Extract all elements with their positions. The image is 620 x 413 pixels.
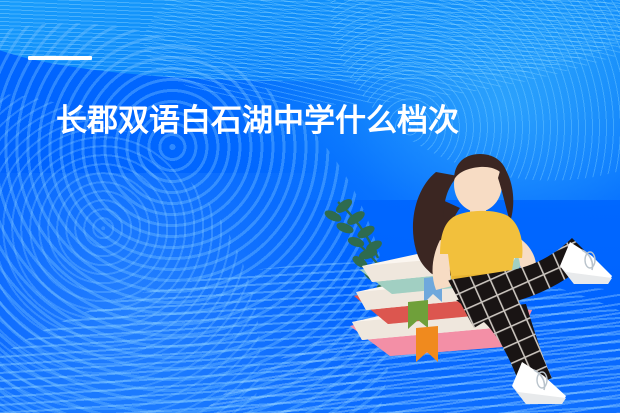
poster-canvas: 长郡双语白石湖中学什么档次 (0, 0, 620, 413)
figure-shoe-upper (560, 242, 612, 284)
page-title: 长郡双语白石湖中学什么档次 (56, 103, 576, 140)
illustration-woman-on-books (320, 150, 620, 413)
bookmark-orange (416, 326, 438, 362)
title-underline-rule (28, 56, 92, 60)
